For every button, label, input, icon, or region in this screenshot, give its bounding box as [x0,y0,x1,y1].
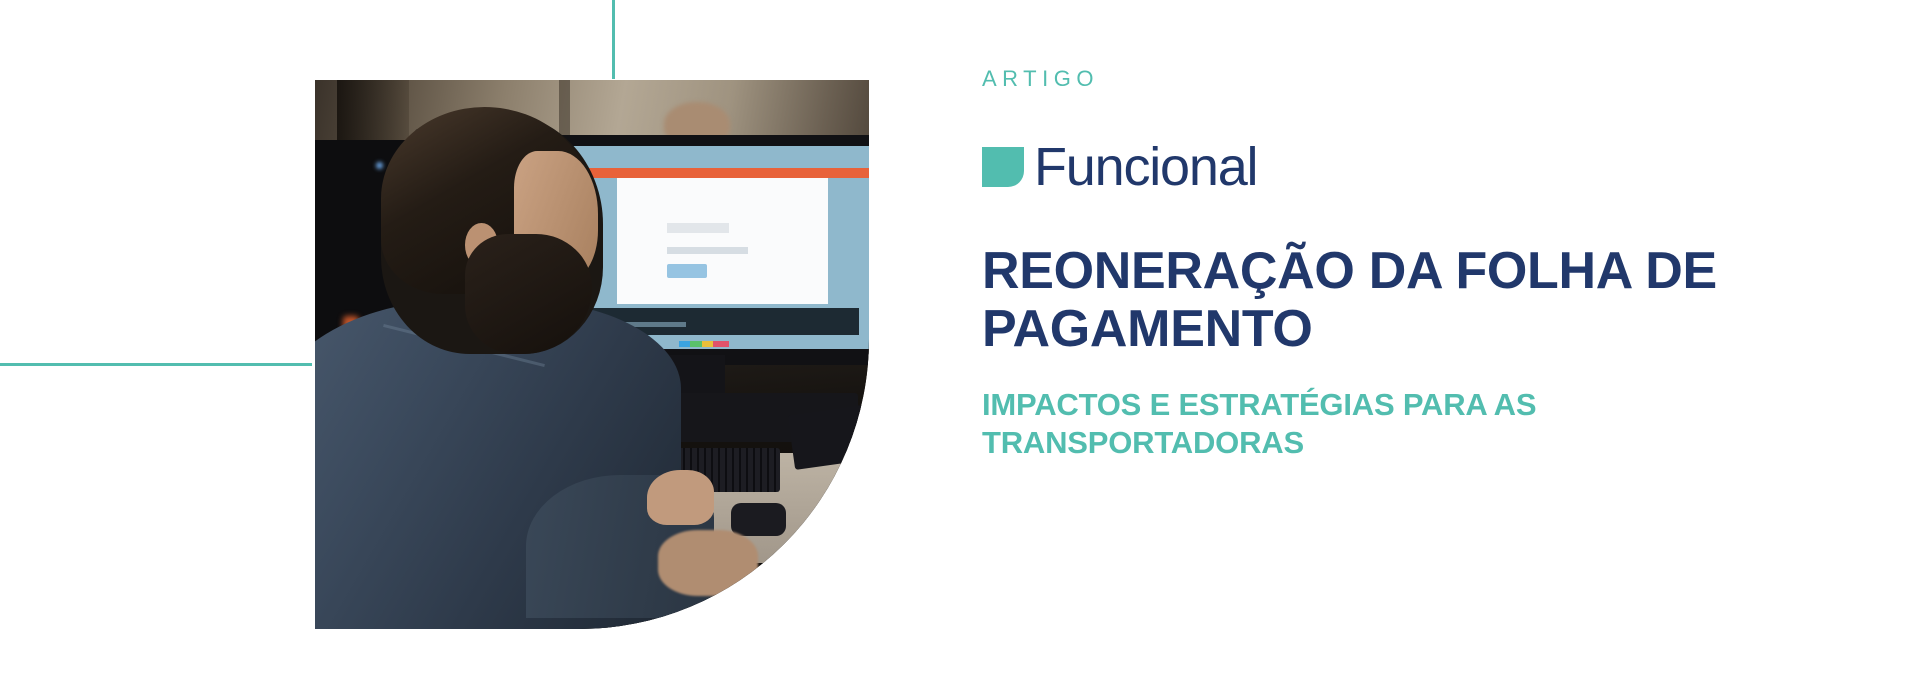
photo-scene [315,80,869,629]
scene-person-forearm [658,530,758,596]
funcional-wordmark: Funcional [1034,140,1257,194]
scene-screen-button [667,264,707,278]
scene-person-hand [647,470,713,525]
scene-mouse [731,503,786,536]
headline-line-1: REONERAÇÃO DA FOLHA DE [982,242,1742,300]
subhead-line-1: IMPACTOS E ESTRATÉGIAS PARA AS [982,386,1742,424]
content-column: ARTIGO Funcional REONERAÇÃO DA FOLHA DE … [982,68,1742,462]
eyebrow-label: ARTIGO [982,68,1742,90]
hero-photo [315,80,869,629]
page-title: REONERAÇÃO DA FOLHA DE PAGAMENTO [982,242,1742,358]
scene-screen-topbar [562,168,869,178]
page-subtitle: IMPACTOS E ESTRATÉGIAS PARA AS TRANSPORT… [982,386,1742,462]
article-banner: ARTIGO Funcional REONERAÇÃO DA FOLHA DE … [0,0,1920,700]
funcional-logo-mark-icon [982,147,1024,187]
horizontal-teal-rule [0,363,312,366]
subhead-line-2: TRANSPORTADORAS [982,424,1742,462]
scene-screen-page [617,178,828,304]
vertical-teal-rule [612,0,615,79]
scene-screen-field-2 [667,247,748,253]
scene-side-keyboard [788,403,869,470]
brand-logo: Funcional [982,140,1742,194]
scene-screen-color-dots [679,341,729,347]
headline-line-2: PAGAMENTO [982,300,1742,358]
scene-screen-field-1 [667,223,729,233]
